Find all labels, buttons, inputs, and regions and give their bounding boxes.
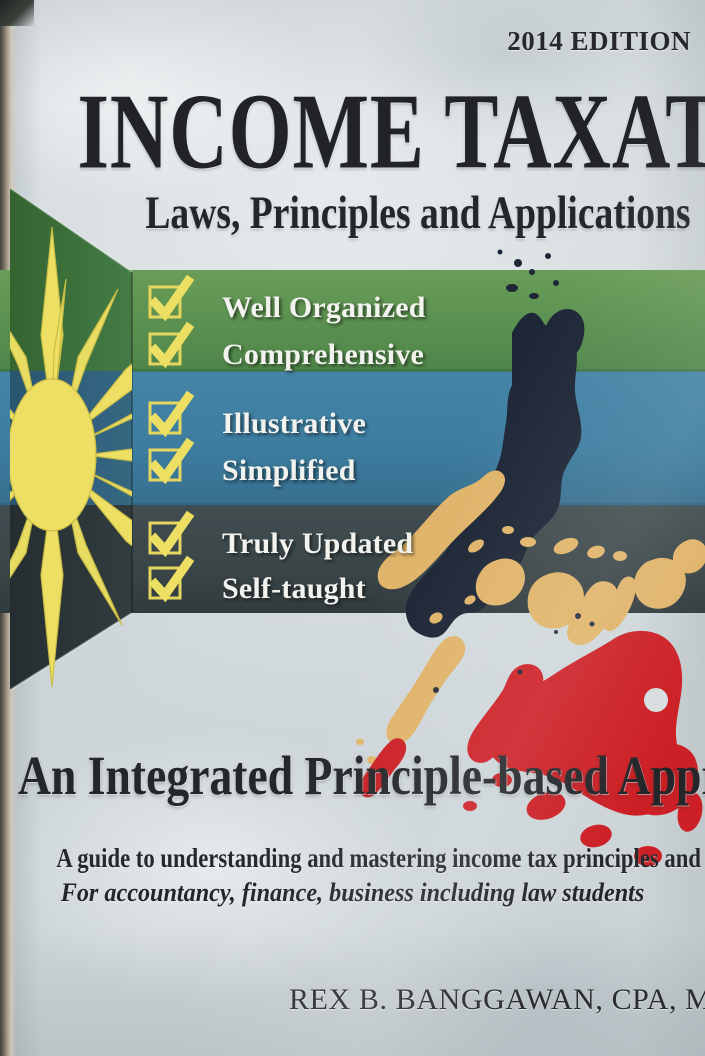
- book-subtitle: Laws, Principles and Applications: [146, 190, 691, 237]
- feature-label-well-organized: Well Organized: [222, 291, 426, 325]
- feature-label-self-taught: Self-taught: [222, 572, 366, 606]
- feature-label-simplified: Simplified: [222, 454, 356, 488]
- feature-label-comprehensive: Comprehensive: [222, 338, 424, 372]
- feature-label-illustrative: Illustrative: [222, 407, 366, 441]
- description-line-2: For accountancy, finance, business inclu…: [25, 880, 681, 906]
- description-line-1: A guide to understanding and mastering i…: [56, 845, 648, 872]
- book-cover: Well Organized Comprehensive Illustrativ…: [0, 0, 705, 1056]
- feature-label-truly-updated: Truly Updated: [222, 527, 413, 561]
- author-name: REX B. BANGGAWAN, CPA, MBA: [289, 985, 705, 1015]
- approach-tagline: An Integrated Principle-based Approach: [18, 748, 705, 803]
- book-title: INCOME TAXATION: [78, 78, 628, 186]
- edition-label: 2014 EDITION: [507, 26, 691, 57]
